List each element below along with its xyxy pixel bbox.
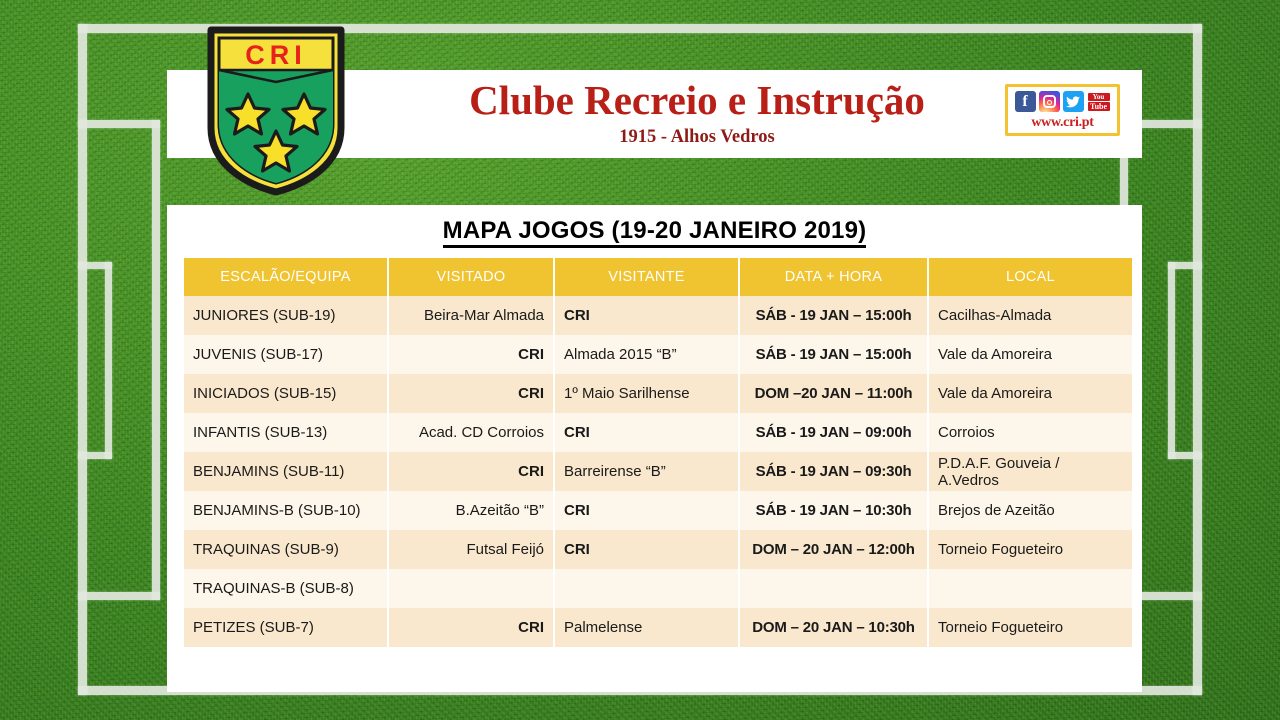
table-row: BENJAMINS (SUB-11)CRIBarreirense “B”SÁB …: [184, 452, 1132, 491]
cell-visitante: CRI: [554, 530, 739, 569]
cell-local: Vale da Amoreira: [928, 374, 1132, 413]
table-row: TRAQUINAS-B (SUB-8): [184, 569, 1132, 608]
cell-local: Torneio Fogueteiro: [928, 608, 1132, 647]
cell-data-hora: SÁB - 19 JAN – 09:30h: [739, 452, 928, 491]
youtube-icon[interactable]: YouTube: [1087, 91, 1111, 112]
cell-visitado: CRI: [388, 452, 554, 491]
schedule-panel: MAPA JOGOS (19-20 JANEIRO 2019) ESCALÃO/…: [167, 205, 1142, 692]
table-row: TRAQUINAS (SUB-9)Futsal FeijóCRIDOM – 20…: [184, 530, 1132, 569]
club-name: Clube Recreio e Instrução: [469, 80, 925, 122]
cell-visitado: Beira-Mar Almada: [388, 296, 554, 335]
cell-escalao: BENJAMINS-B (SUB-10): [184, 491, 388, 530]
facebook-icon[interactable]: f: [1015, 91, 1036, 112]
cell-visitado: B.Azeitão “B”: [388, 491, 554, 530]
cell-local: P.D.A.F. Gouveia / A.Vedros: [928, 452, 1132, 491]
cell-local: Corroios: [928, 413, 1132, 452]
cell-escalao: INICIADOS (SUB-15): [184, 374, 388, 413]
pitch-right-goal-side: [1168, 262, 1175, 459]
svg-text:CRI: CRI: [245, 40, 307, 70]
cell-local: Vale da Amoreira: [928, 335, 1132, 374]
cell-escalao: TRAQUINAS-B (SUB-8): [184, 569, 388, 608]
table-row: BENJAMINS-B (SUB-10)B.Azeitão “B”CRISÁB …: [184, 491, 1132, 530]
cell-visitado: CRI: [388, 608, 554, 647]
cell-escalao: PETIZES (SUB-7): [184, 608, 388, 647]
column-header-visitado[interactable]: VISITADO: [388, 258, 554, 296]
cell-visitante: CRI: [554, 491, 739, 530]
cell-local: Torneio Fogueteiro: [928, 530, 1132, 569]
cell-visitante: Palmelense: [554, 608, 739, 647]
cell-data-hora: SÁB - 19 JAN – 15:00h: [739, 296, 928, 335]
pitch-left-box-top: [78, 120, 160, 128]
cell-local: Cacilhas-Almada: [928, 296, 1132, 335]
cell-visitante: 1º Maio Sarilhense: [554, 374, 739, 413]
column-header-escalao[interactable]: ESCALÃO/EQUIPA: [184, 258, 388, 296]
cell-data-hora: SÁB - 19 JAN – 15:00h: [739, 335, 928, 374]
table-row: JUNIORES (SUB-19)Beira-Mar AlmadaCRISÁB …: [184, 296, 1132, 335]
website-url[interactable]: www.cri.pt: [1031, 115, 1093, 131]
cell-escalao: TRAQUINAS (SUB-9): [184, 530, 388, 569]
column-header-visitante[interactable]: VISITANTE: [554, 258, 739, 296]
pitch-left-box-side: [152, 120, 160, 600]
cell-local: Brejos de Azeitão: [928, 491, 1132, 530]
cell-visitado: Acad. CD Corroios: [388, 413, 554, 452]
club-title-block: Clube Recreio e Instrução 1915 - Alhos V…: [387, 70, 1007, 158]
page-title: MAPA JOGOS (19-20 JANEIRO 2019): [167, 217, 1142, 245]
instagram-icon[interactable]: [1039, 91, 1060, 112]
cell-visitante: Almada 2015 “B”: [554, 335, 739, 374]
cell-data-hora: DOM –20 JAN – 11:00h: [739, 374, 928, 413]
pitch-left-goal-side: [105, 262, 112, 459]
column-header-data-hora[interactable]: DATA + HORA: [739, 258, 928, 296]
cell-escalao: BENJAMINS (SUB-11): [184, 452, 388, 491]
cell-visitado: [388, 569, 554, 608]
table-row: INFANTIS (SUB-13)Acad. CD CorroiosCRISÁB…: [184, 413, 1132, 452]
page-title-text: MAPA JOGOS (19-20 JANEIRO 2019): [443, 217, 867, 248]
schedule-table: ESCALÃO/EQUIPA VISITADO VISITANTE DATA +…: [184, 258, 1132, 647]
cell-visitado: CRI: [388, 374, 554, 413]
cell-escalao: JUVENIS (SUB-17): [184, 335, 388, 374]
table-row: PETIZES (SUB-7)CRIPalmelenseDOM – 20 JAN…: [184, 608, 1132, 647]
cell-data-hora: SÁB - 19 JAN – 10:30h: [739, 491, 928, 530]
cell-visitado: Futsal Feijó: [388, 530, 554, 569]
table-row: INICIADOS (SUB-15)CRI1º Maio SarilhenseD…: [184, 374, 1132, 413]
cell-visitante: CRI: [554, 413, 739, 452]
social-icons-row: f YouTube: [1015, 90, 1111, 114]
pitch-left-box-bottom: [78, 592, 160, 600]
cell-visitante: CRI: [554, 296, 739, 335]
cell-data-hora: DOM – 20 JAN – 10:30h: [739, 608, 928, 647]
column-header-local[interactable]: LOCAL: [928, 258, 1132, 296]
twitter-icon[interactable]: [1063, 91, 1084, 112]
cell-local: [928, 569, 1132, 608]
schedule-table-body: JUNIORES (SUB-19)Beira-Mar AlmadaCRISÁB …: [184, 296, 1132, 647]
table-row: JUVENIS (SUB-17)CRIAlmada 2015 “B”SÁB - …: [184, 335, 1132, 374]
cell-data-hora: [739, 569, 928, 608]
table-header-row: ESCALÃO/EQUIPA VISITADO VISITANTE DATA +…: [184, 258, 1132, 296]
cell-escalao: JUNIORES (SUB-19): [184, 296, 388, 335]
cell-visitado: CRI: [388, 335, 554, 374]
club-crest-icon: CRI: [203, 24, 349, 196]
cell-visitante: Barreirense “B”: [554, 452, 739, 491]
cell-escalao: INFANTIS (SUB-13): [184, 413, 388, 452]
cell-visitante: [554, 569, 739, 608]
cell-data-hora: DOM – 20 JAN – 12:00h: [739, 530, 928, 569]
social-links-box[interactable]: f YouTube www.cri.pt: [1005, 84, 1120, 136]
club-subtitle: 1915 - Alhos Vedros: [619, 127, 774, 148]
cell-data-hora: SÁB - 19 JAN – 09:00h: [739, 413, 928, 452]
